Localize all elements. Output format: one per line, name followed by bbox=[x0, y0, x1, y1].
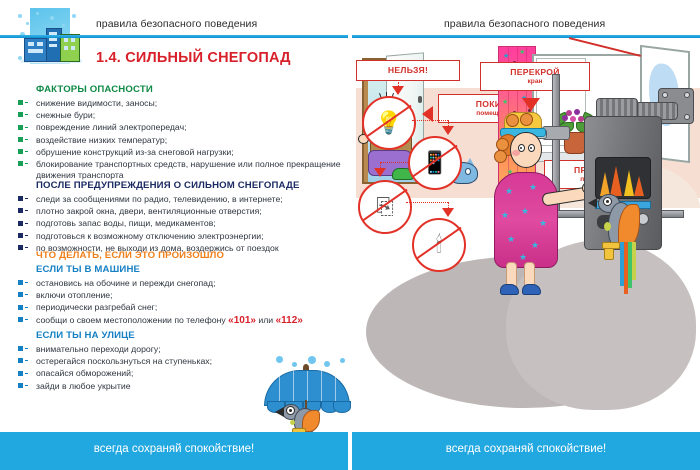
list-item-text: обрушение конструкций из-за снеговой наг… bbox=[36, 147, 234, 157]
list-item-text: следи за сообщениями по радио, телевиден… bbox=[36, 194, 283, 204]
list-item: остановись на обочине и пережди снегопад… bbox=[18, 278, 348, 289]
list-item: воздействие низких температур; bbox=[18, 135, 348, 146]
list-item: блокирование транспортных средств, наруш… bbox=[18, 159, 348, 180]
bullet-marker bbox=[18, 196, 23, 201]
connector-arrow bbox=[374, 168, 386, 177]
list-item-text: снежные бури; bbox=[36, 110, 95, 120]
section-heading: ЕСЛИ ТЫ НА УЛИЦЕ bbox=[36, 330, 348, 341]
bullet-dash bbox=[25, 210, 29, 211]
snowy-city-icon bbox=[16, 8, 86, 72]
list-item-text: остерегайся поскользнуться на ступеньках… bbox=[36, 356, 212, 366]
bullet-marker bbox=[18, 305, 23, 310]
list-item: снижение видимости, заносы; bbox=[18, 98, 348, 109]
prohibition-light-switch: ⎘ bbox=[358, 180, 412, 234]
bullet-dash bbox=[25, 223, 29, 224]
light-bulb-icon: 💡 bbox=[364, 98, 414, 148]
list-item-text: блокирование транспортных средств, наруш… bbox=[36, 159, 341, 180]
footer-bar-right: всегда сохраняй спокойствие! bbox=[352, 432, 700, 470]
bullet-marker bbox=[18, 137, 23, 142]
woman-closing-valve-icon: ★ ★ ★ ★ ★ ★ ★ ★ bbox=[490, 112, 586, 292]
bullet-dash bbox=[25, 319, 29, 320]
emergency-number-101: «101» bbox=[228, 315, 256, 326]
footer-text-right: всегда сохраняй спокойствие! bbox=[352, 443, 700, 455]
bullet-dash bbox=[25, 127, 29, 128]
connector-line bbox=[412, 120, 448, 121]
list-item-text: подготовь запас воды, пищи, медикаментов… bbox=[36, 218, 216, 228]
callout-shut-valve: ПЕРЕКРОЙ кран bbox=[480, 62, 590, 91]
bullet-marker bbox=[18, 280, 23, 285]
bullet-marker bbox=[18, 346, 23, 351]
header-divider-left bbox=[0, 35, 348, 38]
parrot-on-boiler-icon bbox=[592, 194, 666, 304]
bullet-dash bbox=[25, 373, 29, 374]
callout-forbidden: НЕЛЬЗЯ! bbox=[356, 60, 460, 81]
danger-factors-list: снижение видимости, заносы; снежные бури… bbox=[18, 98, 348, 180]
emergency-number-112: «112» bbox=[276, 315, 303, 326]
in-car-list: остановись на обочине и пережди снегопад… bbox=[18, 278, 348, 326]
bullet-marker bbox=[18, 371, 23, 376]
section-subheading: ЕСЛИ ТЫ В МАШИНЕ bbox=[36, 264, 348, 275]
list-item-text: снижение видимости, заносы; bbox=[36, 98, 157, 108]
bullet-dash bbox=[25, 235, 29, 236]
list-item-text: подготовься к возможному отключению элек… bbox=[36, 231, 264, 241]
bullet-dash bbox=[25, 247, 29, 248]
illustration-panel: ПОКИНЬ помещение ★ ★ ★ ★ ★ ★ ★ ★ ★ ★ ★ ★ bbox=[356, 40, 700, 430]
bullet-marker bbox=[18, 161, 23, 166]
bullet-dash bbox=[25, 163, 29, 164]
list-item: плотно закрой окна, двери, вентиляционны… bbox=[18, 206, 348, 217]
footer-text-left: всегда сохраняй спокойствие! bbox=[0, 443, 348, 455]
connector-arrow bbox=[392, 86, 404, 95]
list-item-text: плотно закрой окна, двери, вентиляционны… bbox=[36, 206, 262, 216]
bullet-dash bbox=[25, 348, 29, 349]
mobile-phone-icon: 📱 bbox=[410, 138, 460, 188]
section-what-to-do: ЧТО ДЕЛАТЬ, ЕСЛИ ЭТО ПРОИЗОШЛО ЕСЛИ ТЫ В… bbox=[18, 250, 348, 328]
parrot-with-umbrella-icon bbox=[256, 356, 356, 432]
section-heading: ЧТО ДЕЛАТЬ, ЕСЛИ ЭТО ПРОИЗОШЛО bbox=[36, 250, 348, 261]
conjunction-text: или bbox=[256, 315, 276, 325]
callout-title: НЕЛЬЗЯ! bbox=[365, 65, 451, 75]
bullet-marker bbox=[18, 358, 23, 363]
prohibition-mobile-phone: 📱 bbox=[408, 136, 462, 190]
list-item: повреждение линий электропередач; bbox=[18, 122, 348, 133]
poster-page: правила безопасного поведения правила бе… bbox=[0, 0, 700, 470]
section-danger-factors: ФАКТОРЫ ОПАСНОСТИ снижение видимости, за… bbox=[18, 84, 348, 182]
bullet-dash bbox=[25, 151, 29, 152]
connector-arrow bbox=[442, 126, 454, 135]
list-item: снежные бури; bbox=[18, 110, 348, 121]
bullet-marker bbox=[18, 383, 23, 388]
prohibition-matches: 🕯 bbox=[412, 218, 466, 272]
light-switch-icon: ⎘ bbox=[360, 182, 410, 232]
bullet-dash bbox=[25, 198, 29, 199]
section-heading: ФАКТОРЫ ОПАСНОСТИ bbox=[36, 84, 348, 95]
header-divider-right bbox=[352, 35, 700, 38]
connector-line bbox=[380, 162, 410, 163]
bullet-marker bbox=[18, 317, 23, 322]
header-caption-left: правила безопасного поведения bbox=[96, 18, 257, 30]
list-item-emergency: сообщи о своем местоположении по телефон… bbox=[18, 315, 348, 327]
list-item: подготовь запас воды, пищи, медикаментов… bbox=[18, 218, 348, 229]
section-after-warning: ПОСЛЕ ПРЕДУПРЕЖДЕНИЯ О СИЛЬНОМ СНЕГОПАДЕ… bbox=[18, 180, 348, 255]
callout-arrow-valve bbox=[522, 98, 540, 111]
bullet-marker bbox=[18, 100, 23, 105]
callout-title: ПЕРЕКРОЙ bbox=[489, 67, 581, 77]
connector-line bbox=[406, 202, 448, 203]
bullet-marker bbox=[18, 292, 23, 297]
list-item-text: зайди в любое укрытие bbox=[36, 381, 131, 391]
callout-subtitle: кран bbox=[489, 78, 581, 85]
list-item: периодически разгребай снег; bbox=[18, 302, 348, 313]
bullet-dash bbox=[25, 282, 29, 283]
bullet-dash bbox=[25, 294, 29, 295]
bullet-dash bbox=[25, 102, 29, 103]
footer-bar-left: всегда сохраняй спокойствие! bbox=[0, 432, 348, 470]
list-item: следи за сообщениями по радио, телевиден… bbox=[18, 194, 348, 205]
after-warning-list: следи за сообщениями по радио, телевиден… bbox=[18, 194, 348, 253]
bullet-marker bbox=[18, 208, 23, 213]
list-item-text: периодически разгребай снег; bbox=[36, 302, 157, 312]
bullet-dash bbox=[25, 360, 29, 361]
list-item-text: повреждение линий электропередач; bbox=[36, 122, 187, 132]
list-item-text: остановись на обочине и пережди снегопад… bbox=[36, 278, 216, 288]
list-item-text: включи отопление; bbox=[36, 290, 113, 300]
section-heading: ПОСЛЕ ПРЕДУПРЕЖДЕНИЯ О СИЛЬНОМ СНЕГОПАДЕ bbox=[36, 180, 348, 191]
bullet-marker bbox=[18, 149, 23, 154]
bullet-marker bbox=[18, 125, 23, 130]
bullet-dash bbox=[25, 385, 29, 386]
bullet-marker bbox=[18, 233, 23, 238]
bullet-marker bbox=[18, 221, 23, 226]
list-item: внимательно переходи дорогу; bbox=[18, 344, 348, 355]
bullet-dash bbox=[25, 114, 29, 115]
prohibition-light-bulb: 💡 bbox=[362, 96, 416, 150]
bullet-marker bbox=[18, 112, 23, 117]
list-item-text: опасайся обморожений; bbox=[36, 368, 133, 378]
page-title: 1.4. СИЛЬНЫЙ СНЕГОПАД bbox=[96, 50, 291, 66]
list-item: обрушение конструкций из-за снеговой наг… bbox=[18, 147, 348, 158]
match-lighter-icon: 🕯 bbox=[414, 220, 464, 270]
connector-arrow bbox=[442, 208, 454, 217]
list-item: включи отопление; bbox=[18, 290, 348, 301]
list-item: подготовься к возможному отключению элек… bbox=[18, 231, 348, 242]
list-item-text: воздействие низких температур; bbox=[36, 135, 167, 145]
list-item-text: сообщи о своем местоположении по телефон… bbox=[36, 315, 228, 325]
header-caption-right: правила безопасного поведения bbox=[444, 18, 605, 30]
list-item-text: внимательно переходи дорогу; bbox=[36, 344, 161, 354]
bullet-dash bbox=[25, 139, 29, 140]
bullet-dash bbox=[25, 307, 29, 308]
